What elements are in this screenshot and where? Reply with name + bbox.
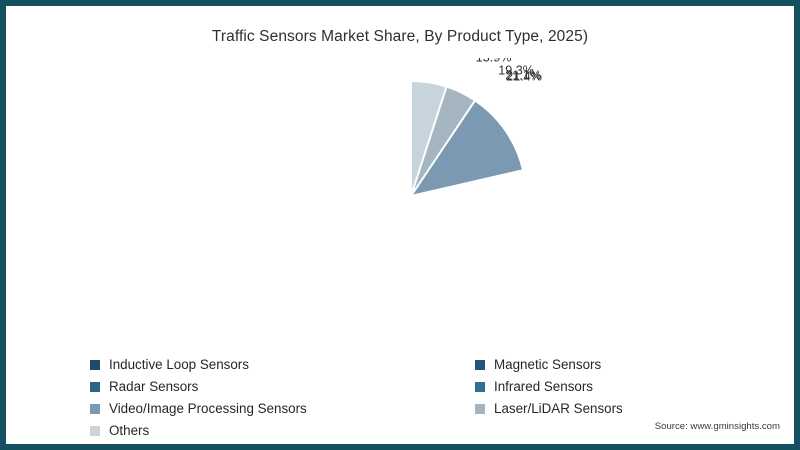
pie-slice-value-label: 21.4% [506, 69, 542, 83]
chart-figure: Traffic Sensors Market Share, By Product… [0, 0, 800, 450]
legend: Inductive Loop SensorsRadar SensorsVideo… [90, 354, 730, 442]
legend-item[interactable]: Others [90, 420, 475, 442]
legend-item-label: Infrared Sensors [494, 380, 593, 393]
legend-swatch-icon [90, 426, 100, 436]
legend-item[interactable]: Video/Image Processing Sensors [90, 398, 475, 420]
legend-swatch-icon [475, 382, 485, 392]
pie-chart-svg: 21.1%13.9%19.3%9.9%21.4%9.4% [6, 58, 800, 340]
legend-swatch-icon [475, 360, 485, 370]
legend-item[interactable]: Magnetic Sensors [475, 354, 730, 376]
legend-item-label: Inductive Loop Sensors [109, 358, 249, 371]
legend-swatch-icon [90, 382, 100, 392]
legend-item[interactable]: Infrared Sensors [475, 376, 730, 398]
legend-swatch-icon [90, 404, 100, 414]
pie-value-labels: 21.1%13.9%19.3%9.9%21.4%9.4% [456, 58, 543, 83]
legend-swatch-icon [90, 360, 100, 370]
legend-item[interactable]: Radar Sensors [90, 376, 475, 398]
legend-item-label: Video/Image Processing Sensors [109, 402, 307, 415]
pie-chart-area: 21.1%13.9%19.3%9.9%21.4%9.4% [6, 58, 794, 340]
legend-item-label: Radar Sensors [109, 380, 198, 393]
legend-item-label: Magnetic Sensors [494, 358, 601, 371]
legend-swatch-icon [475, 404, 485, 414]
legend-item[interactable]: Laser/LiDAR Sensors [475, 398, 730, 420]
pie-slices [411, 81, 523, 196]
legend-item[interactable]: Inductive Loop Sensors [90, 354, 475, 376]
source-note: Source: www.gminsights.com [655, 421, 780, 432]
page-title: Traffic Sensors Market Share, By Product… [6, 28, 794, 46]
legend-item-label: Laser/LiDAR Sensors [494, 402, 623, 415]
legend-item-label: Others [109, 424, 149, 437]
